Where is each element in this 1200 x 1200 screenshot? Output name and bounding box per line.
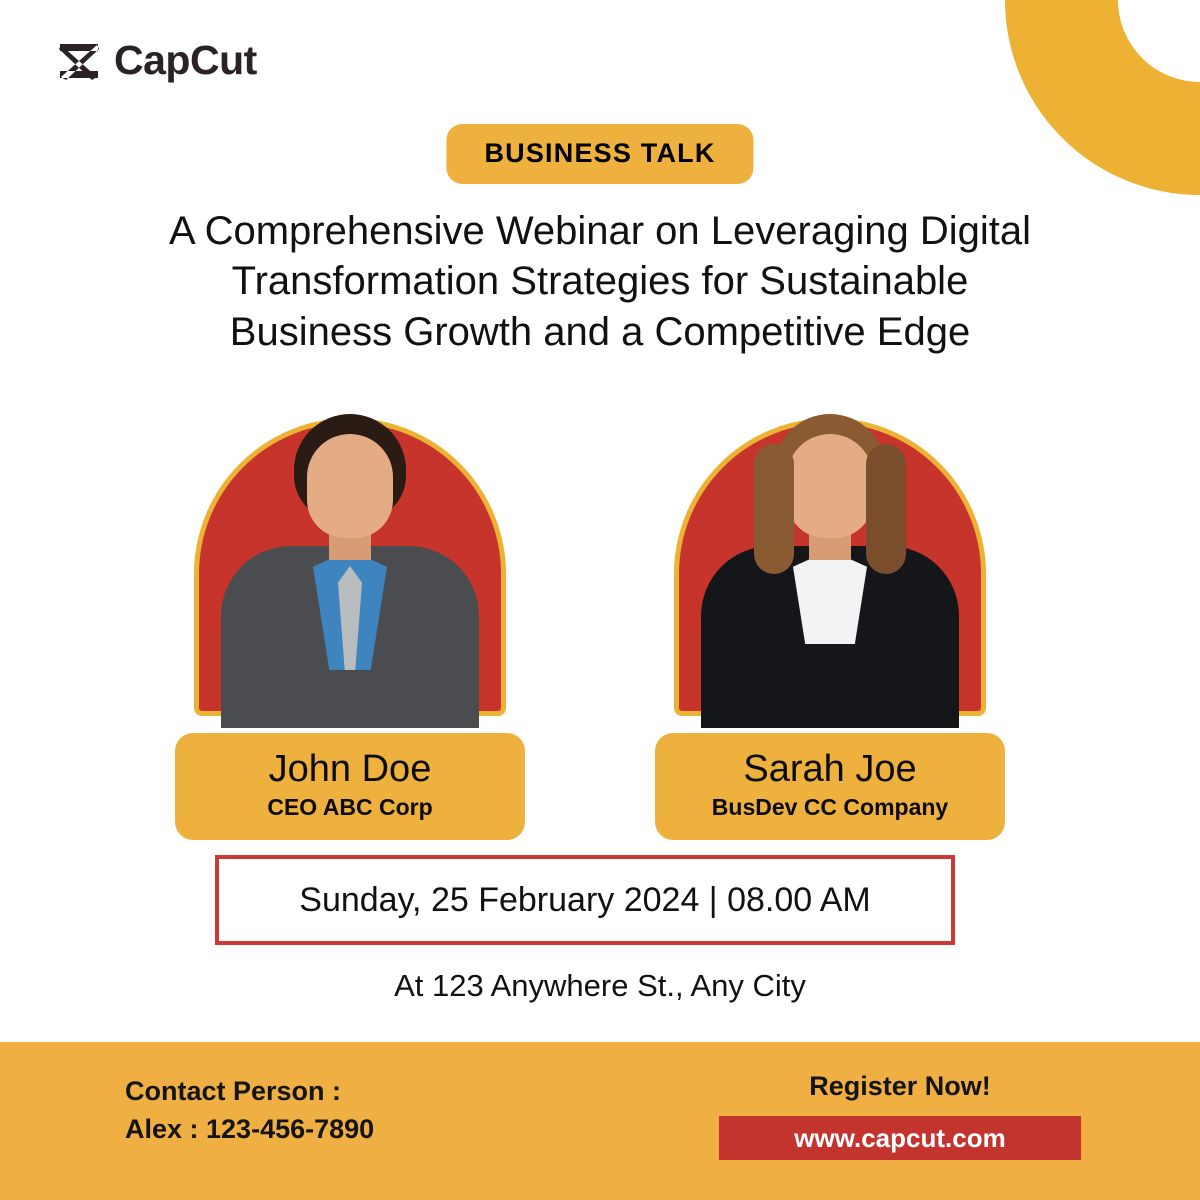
photo-face: [307, 434, 393, 538]
speaker-name-card: John Doe CEO ABC Corp: [175, 733, 525, 840]
capcut-bowtie-icon: [58, 41, 100, 81]
decorative-corner-ring: [1005, 0, 1200, 195]
speaker-role: CEO ABC Corp: [185, 794, 515, 822]
speaker-name: Sarah Joe: [665, 749, 995, 791]
contact-block: Contact Person : Alex : 123-456-7890: [125, 1072, 374, 1149]
business-talk-badge: BUSINESS TALK: [446, 124, 753, 184]
photo-face: [787, 434, 873, 538]
title-line-2: Transformation Strategies for Sustainabl…: [70, 256, 1130, 306]
title-line-1: A Comprehensive Webinar on Leveraging Di…: [70, 206, 1130, 256]
speaker-name: John Doe: [185, 749, 515, 791]
speaker-card-sarah-joe: Sarah Joe BusDev CC Company: [620, 380, 1040, 840]
contact-label: Contact Person :: [125, 1072, 374, 1110]
photo-hair-right: [866, 444, 906, 574]
speakers-section: John Doe CEO ABC Corp Sarah Joe BusDev C…: [0, 380, 1200, 840]
register-label: Register Now!: [700, 1070, 1100, 1102]
photo-crossed-arms: [735, 644, 925, 684]
contact-value: Alex : 123-456-7890: [125, 1110, 374, 1148]
capcut-logo: CapCut: [58, 40, 257, 81]
female-speaker-photo: [680, 408, 980, 728]
event-datetime: Sunday, 25 February 2024 | 08.00 AM: [299, 881, 870, 920]
logo-wordmark: CapCut: [114, 40, 257, 81]
speaker-card-john-doe: John Doe CEO ABC Corp: [140, 380, 560, 840]
photo-hair-left: [754, 444, 794, 574]
event-datetime-box: Sunday, 25 February 2024 | 08.00 AM: [215, 855, 955, 945]
webinar-poster: CapCut BUSINESS TALK A Comprehensive Web…: [0, 0, 1200, 1200]
speaker-role: BusDev CC Company: [665, 794, 995, 822]
title-line-3: Business Growth and a Competitive Edge: [70, 307, 1130, 357]
website-url-button[interactable]: www.capcut.com: [719, 1116, 1081, 1160]
register-block: Register Now! www.capcut.com: [700, 1070, 1100, 1160]
event-address: At 123 Anywhere St., Any City: [0, 968, 1200, 1004]
speaker-name-card: Sarah Joe BusDev CC Company: [655, 733, 1005, 840]
footer-bar: Contact Person : Alex : 123-456-7890 Reg…: [0, 1042, 1200, 1200]
male-speaker-photo: [200, 408, 500, 728]
page-title: A Comprehensive Webinar on Leveraging Di…: [70, 206, 1130, 357]
